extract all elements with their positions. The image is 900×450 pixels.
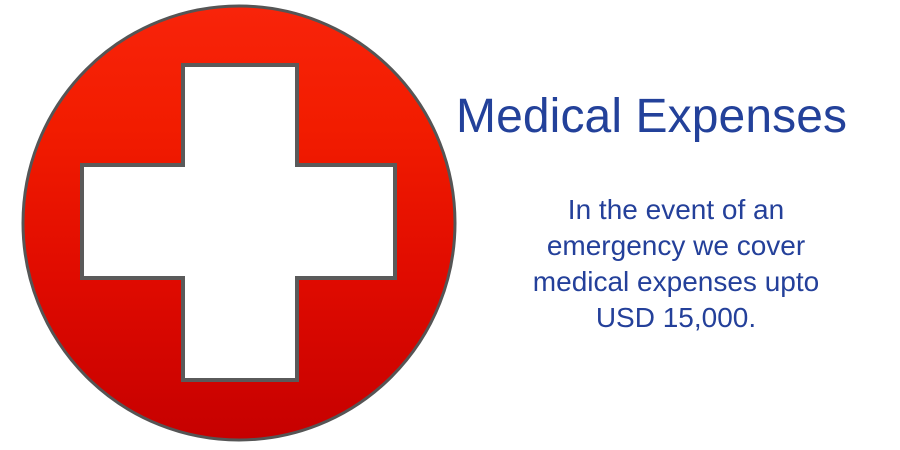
- medical-cross-graphic: [20, 3, 458, 443]
- body-line-2: emergency we cover: [452, 228, 900, 264]
- slide-canvas: Medical Expenses In the event of an emer…: [0, 0, 900, 450]
- body-line-3: medical expenses upto: [452, 264, 900, 300]
- body-line-1: In the event of an: [452, 192, 900, 228]
- text-column: Medical Expenses In the event of an emer…: [452, 0, 900, 450]
- medical-cross-in-circle-icon: [20, 3, 458, 443]
- page-title: Medical Expenses: [456, 88, 900, 146]
- body-line-4: USD 15,000.: [452, 300, 900, 336]
- body-paragraph: In the event of an emergency we cover me…: [452, 192, 900, 336]
